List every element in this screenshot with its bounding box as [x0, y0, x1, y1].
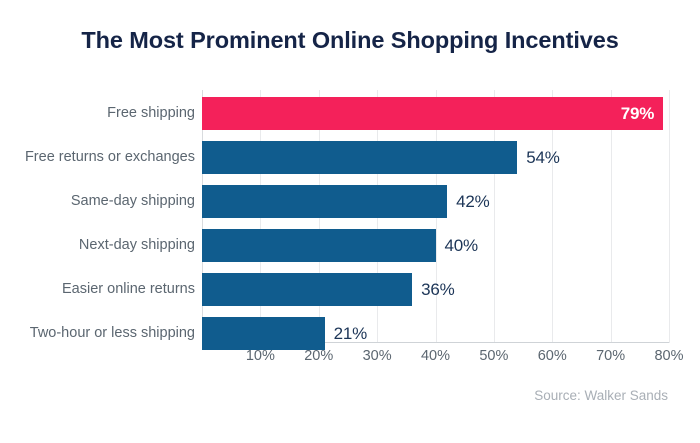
x-tick-label: 40% [421, 348, 450, 364]
bar-row: 54% [202, 141, 669, 174]
x-tick-label: 80% [654, 348, 683, 364]
x-tick-label: 10% [246, 348, 275, 364]
bar-next-day-shipping[interactable] [202, 229, 436, 262]
category-label: Free shipping [107, 97, 195, 130]
gridline-80 [669, 90, 670, 343]
x-axis-tick-labels: 10%20%30%40%50%60%70%80% [202, 348, 669, 370]
bar-free-returns-or-exchanges[interactable] [202, 141, 517, 174]
chart-title: The Most Prominent Online Shopping Incen… [0, 27, 700, 54]
bar-value-label: 54% [526, 148, 559, 168]
category-label: Two-hour or less shipping [30, 317, 195, 350]
bar-value-label: 36% [421, 280, 454, 300]
x-tick-label: 70% [596, 348, 625, 364]
x-tick-label: 20% [304, 348, 333, 364]
x-tick-label: 50% [479, 348, 508, 364]
category-label: Free returns or exchanges [25, 141, 195, 174]
plot-area: 79%54%42%40%36%21% [202, 90, 669, 343]
bar-two-hour-or-less-shipping[interactable] [202, 317, 325, 350]
bar-value-label: 42% [456, 192, 489, 212]
bar-row: 79% [202, 97, 669, 130]
bar-row: 40% [202, 229, 669, 262]
bar-free-shipping[interactable]: 79% [202, 97, 663, 130]
bar-row: 21% [202, 317, 669, 350]
source-attribution: Source: Walker Sands [534, 388, 668, 403]
bar-row: 42% [202, 185, 669, 218]
bar-value-label: 79% [621, 104, 654, 124]
bar-row: 36% [202, 273, 669, 306]
bar-same-day-shipping[interactable] [202, 185, 447, 218]
bar-easier-online-returns[interactable] [202, 273, 412, 306]
category-label: Same-day shipping [71, 185, 195, 218]
bar-value-label: 40% [445, 236, 478, 256]
category-label: Next-day shipping [79, 229, 195, 262]
x-tick-label: 30% [363, 348, 392, 364]
chart-figure: The Most Prominent Online Shopping Incen… [0, 0, 700, 443]
x-tick-label: 60% [538, 348, 567, 364]
category-label: Easier online returns [62, 273, 195, 306]
bar-value-label: 21% [334, 324, 367, 344]
category-axis-labels: Free shippingFree returns or exchangesSa… [0, 90, 195, 343]
bar-series: 79%54%42%40%36%21% [202, 90, 669, 343]
